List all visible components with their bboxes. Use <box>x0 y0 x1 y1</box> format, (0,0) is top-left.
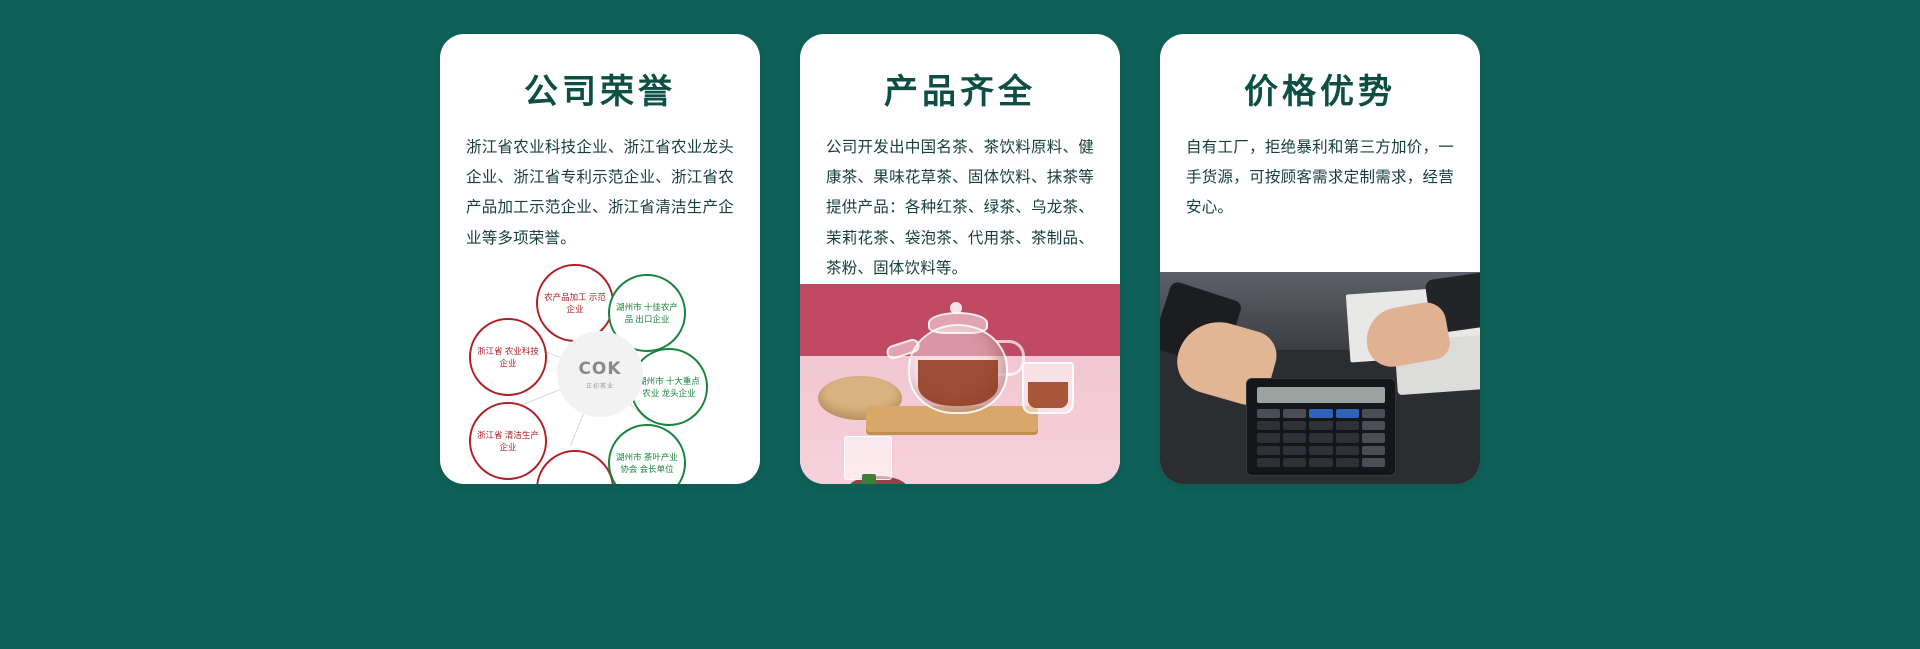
honor-radial-diagram: 农产品加工 示范企业 浙江省 农业科技企业 浙江省 清洁生产企业 浙江省百家 湖… <box>440 264 760 484</box>
brand-logo-subtitle: 正初茶业 <box>586 381 614 390</box>
brand-logo-mark: COK <box>578 359 621 379</box>
honor-badge-label: 农产品加工 示范企业 <box>544 291 606 316</box>
honor-badge[interactable]: 浙江省 清洁生产企业 <box>469 402 547 480</box>
honor-badge-label: 浙江省 农业科技企业 <box>477 345 539 370</box>
calculator-shape <box>1246 378 1396 476</box>
tea-bag-tag-shape <box>862 474 876 484</box>
card-company-honor[interactable]: 公司荣誉 浙江省农业科技企业、浙江省农业龙头企业、浙江省专利示范企业、浙江省农产… <box>440 34 760 484</box>
calculator-keypad-shape <box>1257 409 1385 467</box>
card-body-product-range: 公司开发出中国名茶、茶饮料原料、健康茶、果味花草茶、固体饮料、抹茶等提供产品：各… <box>800 117 1120 284</box>
calculator-screen-shape <box>1257 387 1385 403</box>
card-media-company-honor: 农产品加工 示范企业 浙江省 农业科技企业 浙江省 清洁生产企业 浙江省百家 湖… <box>440 264 760 484</box>
page-root: 公司荣誉 浙江省农业科技企业、浙江省农业龙头企业、浙江省专利示范企业、浙江省农产… <box>0 0 1920 649</box>
card-product-range[interactable]: 产品齐全 公司开发出中国名茶、茶饮料原料、健康茶、果味花草茶、固体饮料、抹茶等提… <box>800 34 1120 484</box>
feature-cards: 公司荣誉 浙江省农业科技企业、浙江省农业龙头企业、浙江省专利示范企业、浙江省农产… <box>0 0 1920 649</box>
card-title-company-honor: 公司荣誉 <box>440 34 760 117</box>
honor-badge[interactable]: 湖州市 十大重点农业 龙头企业 <box>630 348 708 426</box>
honor-badge-label: 浙江省百家 <box>554 483 597 484</box>
tea-cup-shape <box>1022 362 1074 414</box>
calculator-photo <box>1160 272 1480 484</box>
honor-badge-label: 湖州市 十佳农产品 出口企业 <box>616 301 678 326</box>
teapot-body-shape <box>908 324 1008 414</box>
honor-badge-label: 湖州市 十大重点农业 龙头企业 <box>638 375 700 400</box>
honor-badge[interactable]: 湖州市 茶叶产业协会 会长单位 <box>608 424 686 484</box>
card-title-price-advantage: 价格优势 <box>1160 34 1480 117</box>
honor-badge[interactable]: 浙江省 农业科技企业 <box>469 318 547 396</box>
honor-badge-label: 浙江省 清洁生产企业 <box>477 429 539 454</box>
teapot-photo <box>800 284 1120 484</box>
card-media-product-range <box>800 284 1120 484</box>
card-body-company-honor: 浙江省农业科技企业、浙江省农业龙头企业、浙江省专利示范企业、浙江省农产品加工示范… <box>440 117 760 254</box>
card-title-product-range: 产品齐全 <box>800 34 1120 117</box>
brand-logo: COK 正初茶业 <box>557 331 643 417</box>
card-price-advantage[interactable]: 价格优势 自有工厂，拒绝暴利和第三方加价，一手货源，可按顾客需求定制需求，经营安… <box>1160 34 1480 484</box>
card-media-price-advantage <box>1160 272 1480 484</box>
honor-badge-label: 湖州市 茶叶产业协会 会长单位 <box>616 451 678 476</box>
tea-liquid-shape <box>918 360 998 406</box>
honor-badge[interactable]: 浙江省百家 <box>536 450 614 484</box>
card-body-price-advantage: 自有工厂，拒绝暴利和第三方加价，一手货源，可按顾客需求定制需求，经营安心。 <box>1160 117 1480 224</box>
tea-cup-liquid-shape <box>1028 382 1068 408</box>
